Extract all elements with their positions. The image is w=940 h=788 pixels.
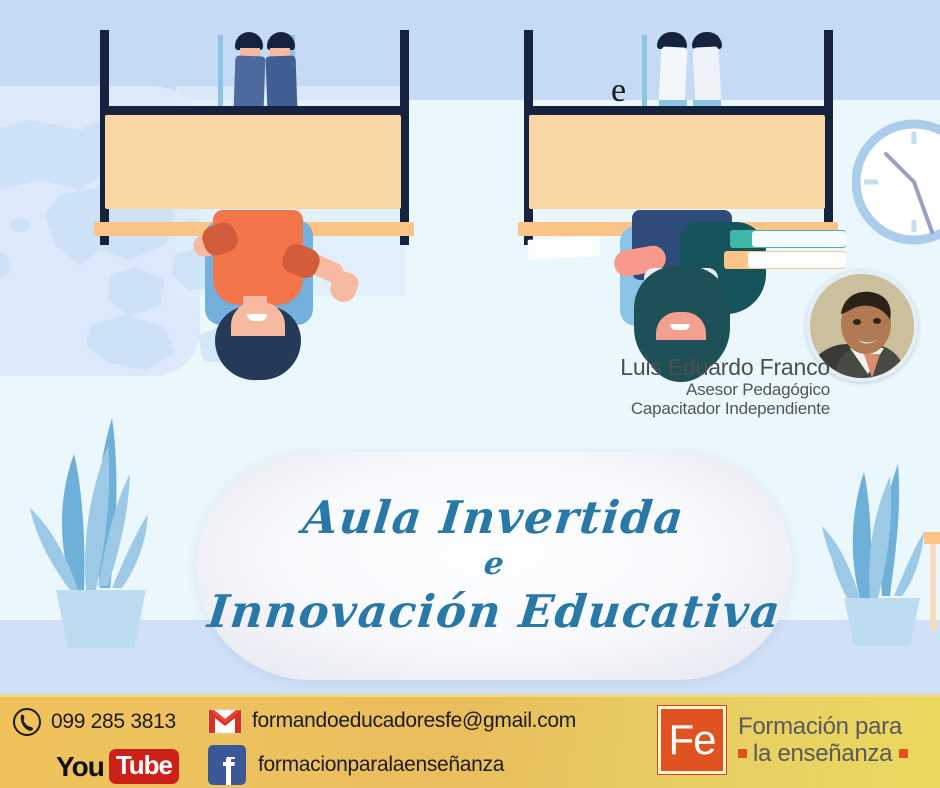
logo-mark-text: Fe — [668, 719, 715, 761]
sock-leg — [693, 46, 722, 105]
student-body-left — [195, 210, 375, 380]
logo-mark: Fe — [658, 706, 726, 774]
contact-phone-row: 099 285 3813 — [12, 707, 176, 737]
youtube-you-text: You — [56, 751, 104, 783]
logo-line-1: Formación para — [738, 713, 908, 740]
book-teal-pages — [752, 231, 846, 247]
paper-sheet — [528, 238, 600, 260]
potted-plant-right-icon — [808, 430, 940, 652]
youtube-icon[interactable]: You Tube — [56, 749, 179, 784]
title-line-3: Innovación Educativa — [205, 585, 784, 639]
contact-youtube-row: You Tube — [56, 749, 179, 784]
potted-plant-left-icon — [12, 382, 192, 654]
logo-line-2-wrap: la enseñanza — [738, 740, 908, 767]
stacked-books-icon — [730, 230, 850, 276]
desk-leg — [824, 30, 833, 245]
title-text-group: Aula Invertida e Innovación Educativa — [196, 452, 792, 680]
youtube-tube-badge: Tube — [109, 749, 179, 784]
wall-clock-icon — [852, 110, 940, 260]
presenter-role-line1: Asesor Pedagógico — [430, 380, 830, 399]
desk-front-panel — [105, 115, 401, 209]
poster-canvas: e — [0, 0, 940, 788]
presenter-role-line2: Capacitador Independiente — [430, 399, 830, 418]
desk-crossbar — [100, 106, 409, 115]
phone-number: 099 285 3813 — [51, 710, 176, 734]
wall-shelf-post — [930, 544, 936, 630]
logo-line-2: la enseñanza — [753, 740, 892, 767]
stray-text-artifact: e — [611, 74, 626, 108]
phone-icon — [12, 707, 42, 737]
desk-front-panel — [529, 115, 825, 209]
title-line-2: e — [482, 543, 506, 585]
youtube-tube-text: Tube — [116, 750, 172, 780]
contact-email-row: formandoeducadoresfe@gmail.com — [208, 707, 576, 735]
paper — [528, 236, 601, 260]
square-bullet-right-icon — [899, 749, 908, 758]
wall-shelf-accent — [924, 532, 940, 544]
contact-rows: 099 285 3813 formandoeducadoresfe@gmail.… — [8, 701, 648, 788]
logo-wordmark: Formación para la enseñanza — [738, 713, 908, 767]
presenter-name: Luis Eduardo Franco — [430, 354, 830, 380]
mouth — [670, 324, 690, 330]
contact-facebook-row: formacionparalaenseñanza — [208, 745, 504, 785]
book-orange-pages — [748, 252, 846, 268]
email-address: formandoeducadoresfe@gmail.com — [252, 709, 576, 733]
square-bullet-left-icon — [738, 749, 747, 758]
facebook-icon — [208, 745, 246, 785]
title-line-1: Aula Invertida — [301, 493, 688, 543]
brand-logo: Fe Formación para la enseñanza — [658, 706, 908, 774]
presenter-info: Luis Eduardo Franco Asesor Pedagógico Ca… — [430, 354, 830, 418]
facebook-handle: formacionparalaenseñanza — [258, 753, 504, 777]
gmail-icon — [208, 707, 242, 735]
sock-leg — [659, 46, 688, 105]
desk-crossbar — [524, 106, 833, 115]
title-card: Aula Invertida e Innovación Educativa — [196, 452, 792, 680]
desk-leg — [400, 30, 409, 245]
